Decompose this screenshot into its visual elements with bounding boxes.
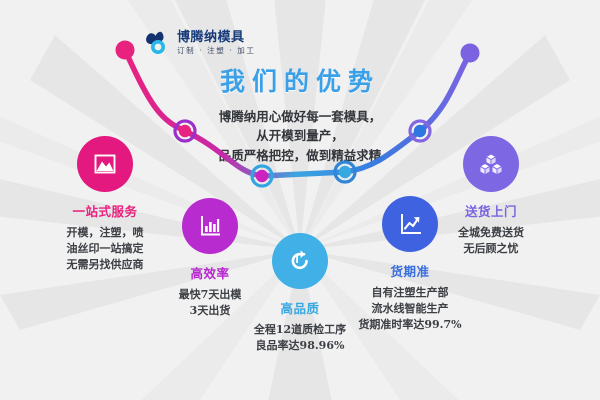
bar-chart-icon xyxy=(197,213,223,239)
feature-desc-door-to-door-delivery: 全城免费送货 无后顾之忧 xyxy=(424,225,558,257)
mountain-photo-icon xyxy=(91,150,119,178)
feature-desc-line: 良品率达98.96% xyxy=(232,338,368,354)
feature-desc-line: 全城免费送货 xyxy=(424,225,558,241)
feature-bubble-high-quality xyxy=(272,233,328,289)
feature-bubble-door-to-door-delivery xyxy=(463,136,519,192)
feature-desc-line: 货期准时率达99.7% xyxy=(340,317,480,333)
curve-node-6 xyxy=(461,44,480,63)
feature-bubble-high-efficiency xyxy=(182,198,238,254)
infographic-canvas: 博腾纳模具 订制 · 注塑 · 加工 我们的优势 博腾纳用心做好每一套模具， 从… xyxy=(0,0,600,400)
refresh-rotate-icon xyxy=(286,247,314,275)
trending-up-chart-icon xyxy=(397,211,424,238)
feature-item-door-to-door-delivery[interactable]: 送货上门 全城免费送货 无后顾之忧 xyxy=(424,136,558,257)
feature-bubble-one-stop-service xyxy=(77,136,133,192)
feature-title-on-time-delivery: 货期准 xyxy=(340,261,480,280)
feature-desc-line: 自有注塑生产部 xyxy=(340,285,480,301)
curve-node-2 xyxy=(175,121,195,141)
feature-desc-line: 流水线智能生产 xyxy=(340,301,480,317)
curve-node-4 xyxy=(335,162,355,182)
feature-desc-on-time-delivery: 自有注塑生产部 流水线智能生产 货期准时率达99.7% xyxy=(340,285,480,333)
curve-node-3 xyxy=(252,166,272,186)
cubes-boxes-icon xyxy=(477,150,505,178)
feature-title-door-to-door-delivery: 送货上门 xyxy=(424,201,558,220)
curve-node-1 xyxy=(116,41,135,60)
feature-desc-line: 无后顾之忧 xyxy=(424,241,558,257)
